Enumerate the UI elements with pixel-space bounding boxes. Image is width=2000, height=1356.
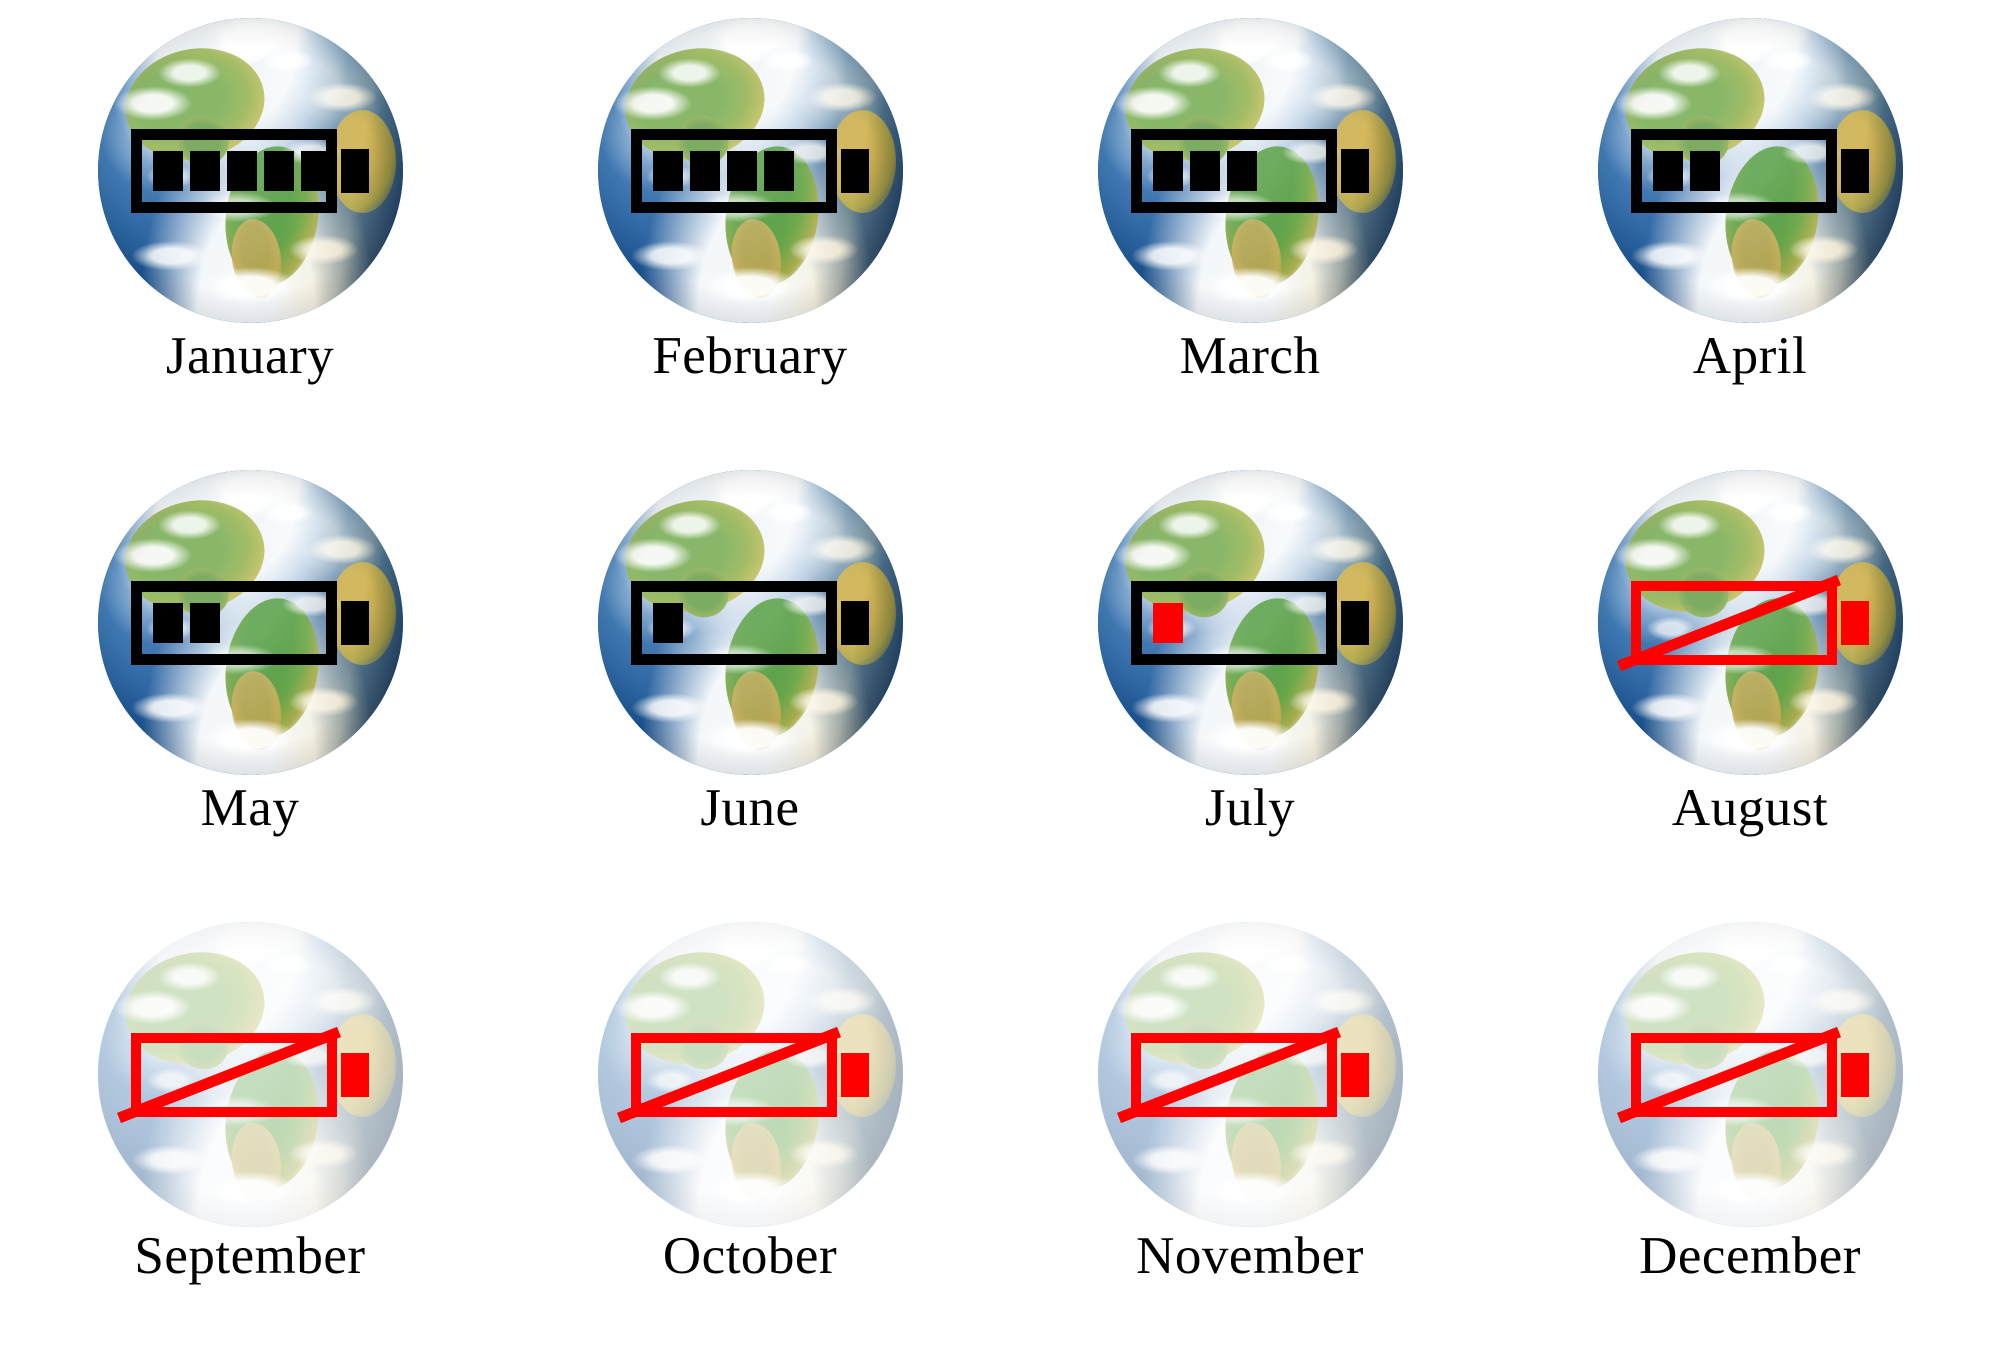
- globe-battery-composite: [598, 922, 903, 1227]
- month-label-april: April: [1693, 329, 1807, 385]
- battery-segment: [1690, 151, 1720, 191]
- month-cell-march: March: [1000, 0, 1500, 452]
- month-cell-june: June: [500, 452, 1000, 904]
- battery-terminal-tip: [1341, 601, 1369, 645]
- month-label-march: March: [1180, 329, 1321, 385]
- battery-segment: [1227, 151, 1257, 191]
- battery-icon-october: [631, 1033, 869, 1117]
- battery-icon-january: [131, 129, 369, 213]
- month-label-february: February: [652, 329, 847, 385]
- battery-terminal-tip: [1841, 1053, 1869, 1097]
- globe-battery-composite: [1598, 470, 1903, 775]
- globe-battery-composite: [1598, 18, 1903, 323]
- battery-terminal-tip: [341, 149, 369, 193]
- month-label-september: September: [134, 1229, 365, 1285]
- battery-icon-june: [631, 581, 869, 665]
- battery-fill-segments: [653, 603, 683, 643]
- battery-terminal-tip: [841, 1053, 869, 1097]
- battery-icon-december: [1631, 1033, 1869, 1117]
- battery-icon-september: [131, 1033, 369, 1117]
- battery-fill-segments: [153, 603, 220, 643]
- globe-battery-composite: [598, 18, 903, 323]
- battery-terminal-tip: [1341, 1053, 1369, 1097]
- globe-battery-composite: [1098, 18, 1403, 323]
- month-cell-july: July: [1000, 452, 1500, 904]
- battery-icon-may: [131, 581, 369, 665]
- month-label-june: June: [700, 781, 799, 837]
- battery-segment: [1190, 151, 1220, 191]
- battery-terminal-tip: [341, 1053, 369, 1097]
- battery-fill-segments: [1653, 151, 1720, 191]
- battery-body: [631, 1033, 837, 1117]
- battery-segment: [190, 151, 220, 191]
- battery-segment: [690, 151, 720, 191]
- battery-fill-segments: [153, 151, 331, 191]
- month-label-november: November: [1136, 1229, 1364, 1285]
- battery-terminal-tip: [341, 601, 369, 645]
- battery-icon-march: [1131, 129, 1369, 213]
- battery-icon-april: [1631, 129, 1869, 213]
- battery-terminal-tip: [1341, 149, 1369, 193]
- month-label-october: October: [663, 1229, 837, 1285]
- battery-body: [1631, 1033, 1837, 1117]
- battery-segment: [153, 151, 183, 191]
- month-cell-april: April: [1500, 0, 2000, 452]
- battery-segment: [264, 151, 294, 191]
- battery-terminal-tip: [841, 601, 869, 645]
- month-cell-october: October: [500, 904, 1000, 1356]
- month-cell-august: August: [1500, 452, 2000, 904]
- battery-terminal-tip: [1841, 601, 1869, 645]
- battery-segment: [1153, 151, 1183, 191]
- month-cell-november: November: [1000, 904, 1500, 1356]
- month-label-july: July: [1205, 781, 1295, 837]
- battery-body: [1131, 581, 1337, 665]
- battery-body: [631, 129, 837, 213]
- battery-body: [1631, 129, 1837, 213]
- globe-battery-composite: [1098, 470, 1403, 775]
- battery-body: [1131, 1033, 1337, 1117]
- battery-segment: [653, 603, 683, 643]
- month-label-may: May: [201, 781, 300, 837]
- month-cell-may: May: [0, 452, 500, 904]
- battery-body: [131, 129, 337, 213]
- battery-body: [1631, 581, 1837, 665]
- battery-segment: [153, 603, 183, 643]
- month-cell-january: January: [0, 0, 500, 452]
- battery-icon-february: [631, 129, 869, 213]
- battery-terminal-tip: [841, 149, 869, 193]
- battery-segment: [190, 603, 220, 643]
- month-label-january: January: [166, 329, 334, 385]
- battery-body: [131, 1033, 337, 1117]
- month-cell-february: February: [500, 0, 1000, 452]
- globe-battery-composite: [98, 922, 403, 1227]
- battery-segment: [301, 151, 331, 191]
- globe-battery-composite: [1098, 922, 1403, 1227]
- battery-segment: [653, 151, 683, 191]
- globe-battery-composite: [1598, 922, 1903, 1227]
- battery-body: [631, 581, 837, 665]
- month-cell-december: December: [1500, 904, 2000, 1356]
- battery-fill-segments: [653, 151, 794, 191]
- battery-icon-july: [1131, 581, 1369, 665]
- battery-fill-segments: [1153, 603, 1183, 643]
- battery-terminal-tip: [1841, 149, 1869, 193]
- battery-fill-segments: [1153, 151, 1257, 191]
- battery-segment: [1153, 603, 1183, 643]
- globe-battery-composite: [598, 470, 903, 775]
- battery-icon-november: [1131, 1033, 1369, 1117]
- battery-segment: [227, 151, 257, 191]
- month-label-august: August: [1672, 781, 1828, 837]
- month-battery-grid: January February: [0, 0, 2000, 1356]
- globe-battery-composite: [98, 18, 403, 323]
- month-cell-september: September: [0, 904, 500, 1356]
- month-label-december: December: [1639, 1229, 1861, 1285]
- battery-segment: [1653, 151, 1683, 191]
- battery-segment: [764, 151, 794, 191]
- globe-battery-composite: [98, 470, 403, 775]
- battery-segment: [727, 151, 757, 191]
- battery-icon-august: [1631, 581, 1869, 665]
- battery-body: [1131, 129, 1337, 213]
- battery-body: [131, 581, 337, 665]
